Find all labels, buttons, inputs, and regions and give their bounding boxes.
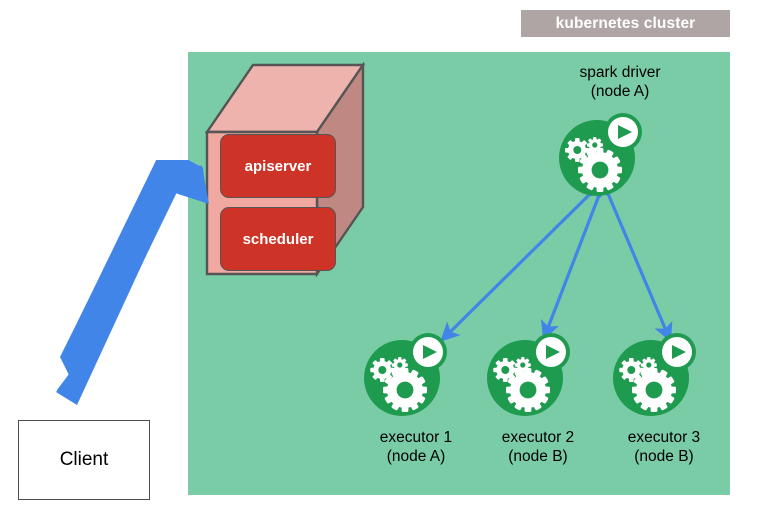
gears-play-icon	[360, 330, 452, 420]
spark-driver-node: (node A)	[540, 82, 700, 101]
kubernetes-cluster-badge: kubernetes cluster	[521, 10, 730, 37]
node-executor-3[interactable]	[609, 330, 701, 420]
spark-submit-arrow: spark-submit	[55, 160, 215, 410]
executor-3-label: executor 3 (node B)	[598, 428, 730, 466]
executor-1-name: executor 1	[350, 428, 482, 447]
executor-1-node: (node A)	[350, 447, 482, 466]
diagram-canvas: kubernetes cluster apiserver scheduler s…	[0, 0, 761, 516]
control-plane-cube: apiserver scheduler	[205, 62, 365, 277]
executor-3-node: (node B)	[598, 447, 730, 466]
executor-2-node: (node B)	[472, 447, 604, 466]
executor-3-name: executor 3	[598, 428, 730, 447]
spark-driver-label: spark driver (node A)	[540, 63, 700, 101]
node-spark-driver[interactable]	[555, 110, 647, 200]
gears-play-icon	[483, 330, 575, 420]
node-executor-2[interactable]	[483, 330, 575, 420]
executor-2-label: executor 2 (node B)	[472, 428, 604, 466]
control-plane-component-apiserver[interactable]: apiserver	[220, 134, 336, 198]
node-executor-1[interactable]	[360, 330, 452, 420]
spark-driver-name: spark driver	[540, 63, 700, 82]
gears-play-icon	[555, 110, 647, 200]
control-plane-component-scheduler[interactable]: scheduler	[220, 207, 336, 271]
executor-1-label: executor 1 (node A)	[350, 428, 482, 466]
control-plane-components: apiserver scheduler	[220, 134, 336, 271]
gears-play-icon	[609, 330, 701, 420]
spark-submit-arrow-icon	[55, 160, 215, 410]
executor-2-name: executor 2	[472, 428, 604, 447]
client-box[interactable]: Client	[18, 420, 150, 500]
